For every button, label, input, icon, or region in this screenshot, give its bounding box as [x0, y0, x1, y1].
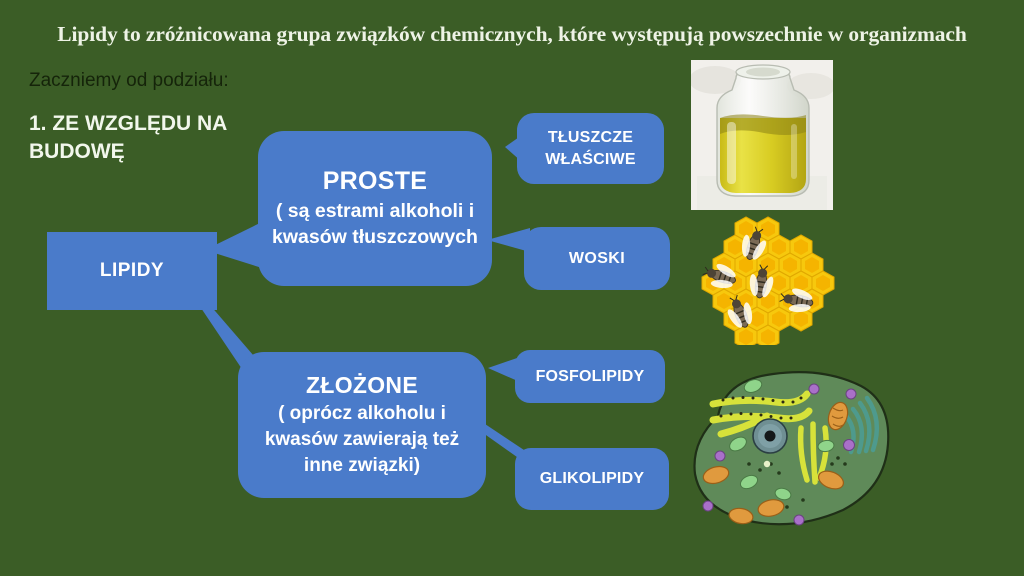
- page-title: Lipidy to zróżnicowana grupa związków ch…: [0, 22, 1024, 47]
- node-glikolipidy[interactable]: GLIKOLIPIDY: [515, 448, 669, 510]
- animal-cell-diagram: [683, 358, 898, 533]
- node-woski[interactable]: WOSKI: [524, 227, 670, 290]
- slide-canvas: Lipidy to zróżnicowana grupa związków ch…: [0, 0, 1024, 576]
- node-tluszcze-wlasciwe-label: TŁUSZCZE WŁAŚCIWE: [517, 127, 664, 170]
- honeycomb-bees-photo: [695, 215, 845, 345]
- node-tluszcze-wlasciwe[interactable]: TŁUSZCZE WŁAŚCIWE: [517, 113, 664, 184]
- node-glikolipidy-label: GLIKOLIPIDY: [540, 470, 644, 488]
- node-proste[interactable]: PROSTE ( są estrami alkoholi i kwasów tł…: [258, 131, 492, 286]
- node-lipidy-label: LIPIDY: [100, 260, 164, 282]
- node-woski-label: WOSKI: [569, 250, 625, 268]
- node-fosfolipidy-label: FOSFOLIPIDY: [536, 368, 645, 386]
- section-heading-1: 1. ZE WZGLĘDU NA BUDOWĘ: [29, 110, 279, 167]
- node-zlozone[interactable]: ZŁOŻONE ( oprócz alkoholu i kwasów zawie…: [238, 352, 486, 498]
- node-proste-description: ( są estrami alkoholi i kwasów tłuszczow…: [268, 199, 482, 250]
- node-lipidy[interactable]: LIPIDY: [47, 232, 217, 310]
- oil-bottle-photo: [691, 60, 833, 210]
- node-zlozone-title: ZŁOŻONE: [306, 372, 418, 400]
- intro-text: Zaczniemy od podziału:: [29, 70, 229, 92]
- node-fosfolipidy[interactable]: FOSFOLIPIDY: [515, 350, 665, 403]
- node-zlozone-description: ( oprócz alkoholu i kwasów zawierają też…: [246, 401, 478, 478]
- node-proste-title: PROSTE: [323, 166, 428, 196]
